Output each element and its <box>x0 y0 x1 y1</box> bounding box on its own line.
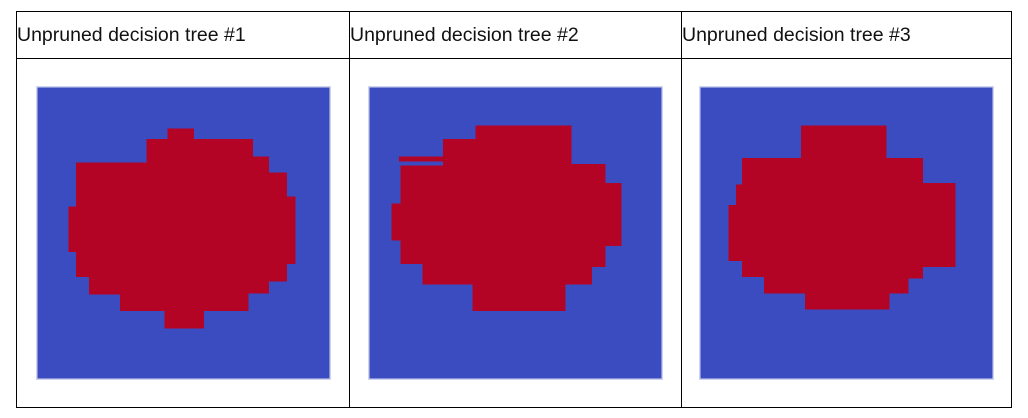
table-header-row: Unpruned decision tree #1 Unpruned decis… <box>17 12 1012 59</box>
column-header-tree-1: Unpruned decision tree #1 <box>17 12 350 59</box>
decision-tree-comparison-table: Unpruned decision tree #1 Unpruned decis… <box>16 11 1012 408</box>
decision-boundary-plot-tree-3 <box>699 86 994 380</box>
decision-boundary-svg-tree-1 <box>36 86 331 380</box>
column-header-tree-3: Unpruned decision tree #3 <box>682 12 1012 59</box>
plot-cell-tree-1 <box>17 59 350 408</box>
class-1-sliver-region-2 <box>399 157 443 162</box>
table-plot-row <box>17 59 1012 408</box>
decision-boundary-svg-tree-2 <box>368 86 663 380</box>
decision-boundary-plot-tree-2 <box>368 86 663 380</box>
table-body <box>17 59 1012 408</box>
plot-cell-tree-2 <box>350 59 682 408</box>
plot-cell-tree-3 <box>682 59 1012 408</box>
decision-boundary-svg-tree-3 <box>699 86 994 380</box>
column-header-tree-2: Unpruned decision tree #2 <box>350 12 682 59</box>
table-header-row-group: Unpruned decision tree #1 Unpruned decis… <box>17 12 1012 59</box>
decision-boundary-plot-tree-1 <box>36 86 331 380</box>
figure-root: Unpruned decision tree #1 Unpruned decis… <box>0 0 1028 418</box>
